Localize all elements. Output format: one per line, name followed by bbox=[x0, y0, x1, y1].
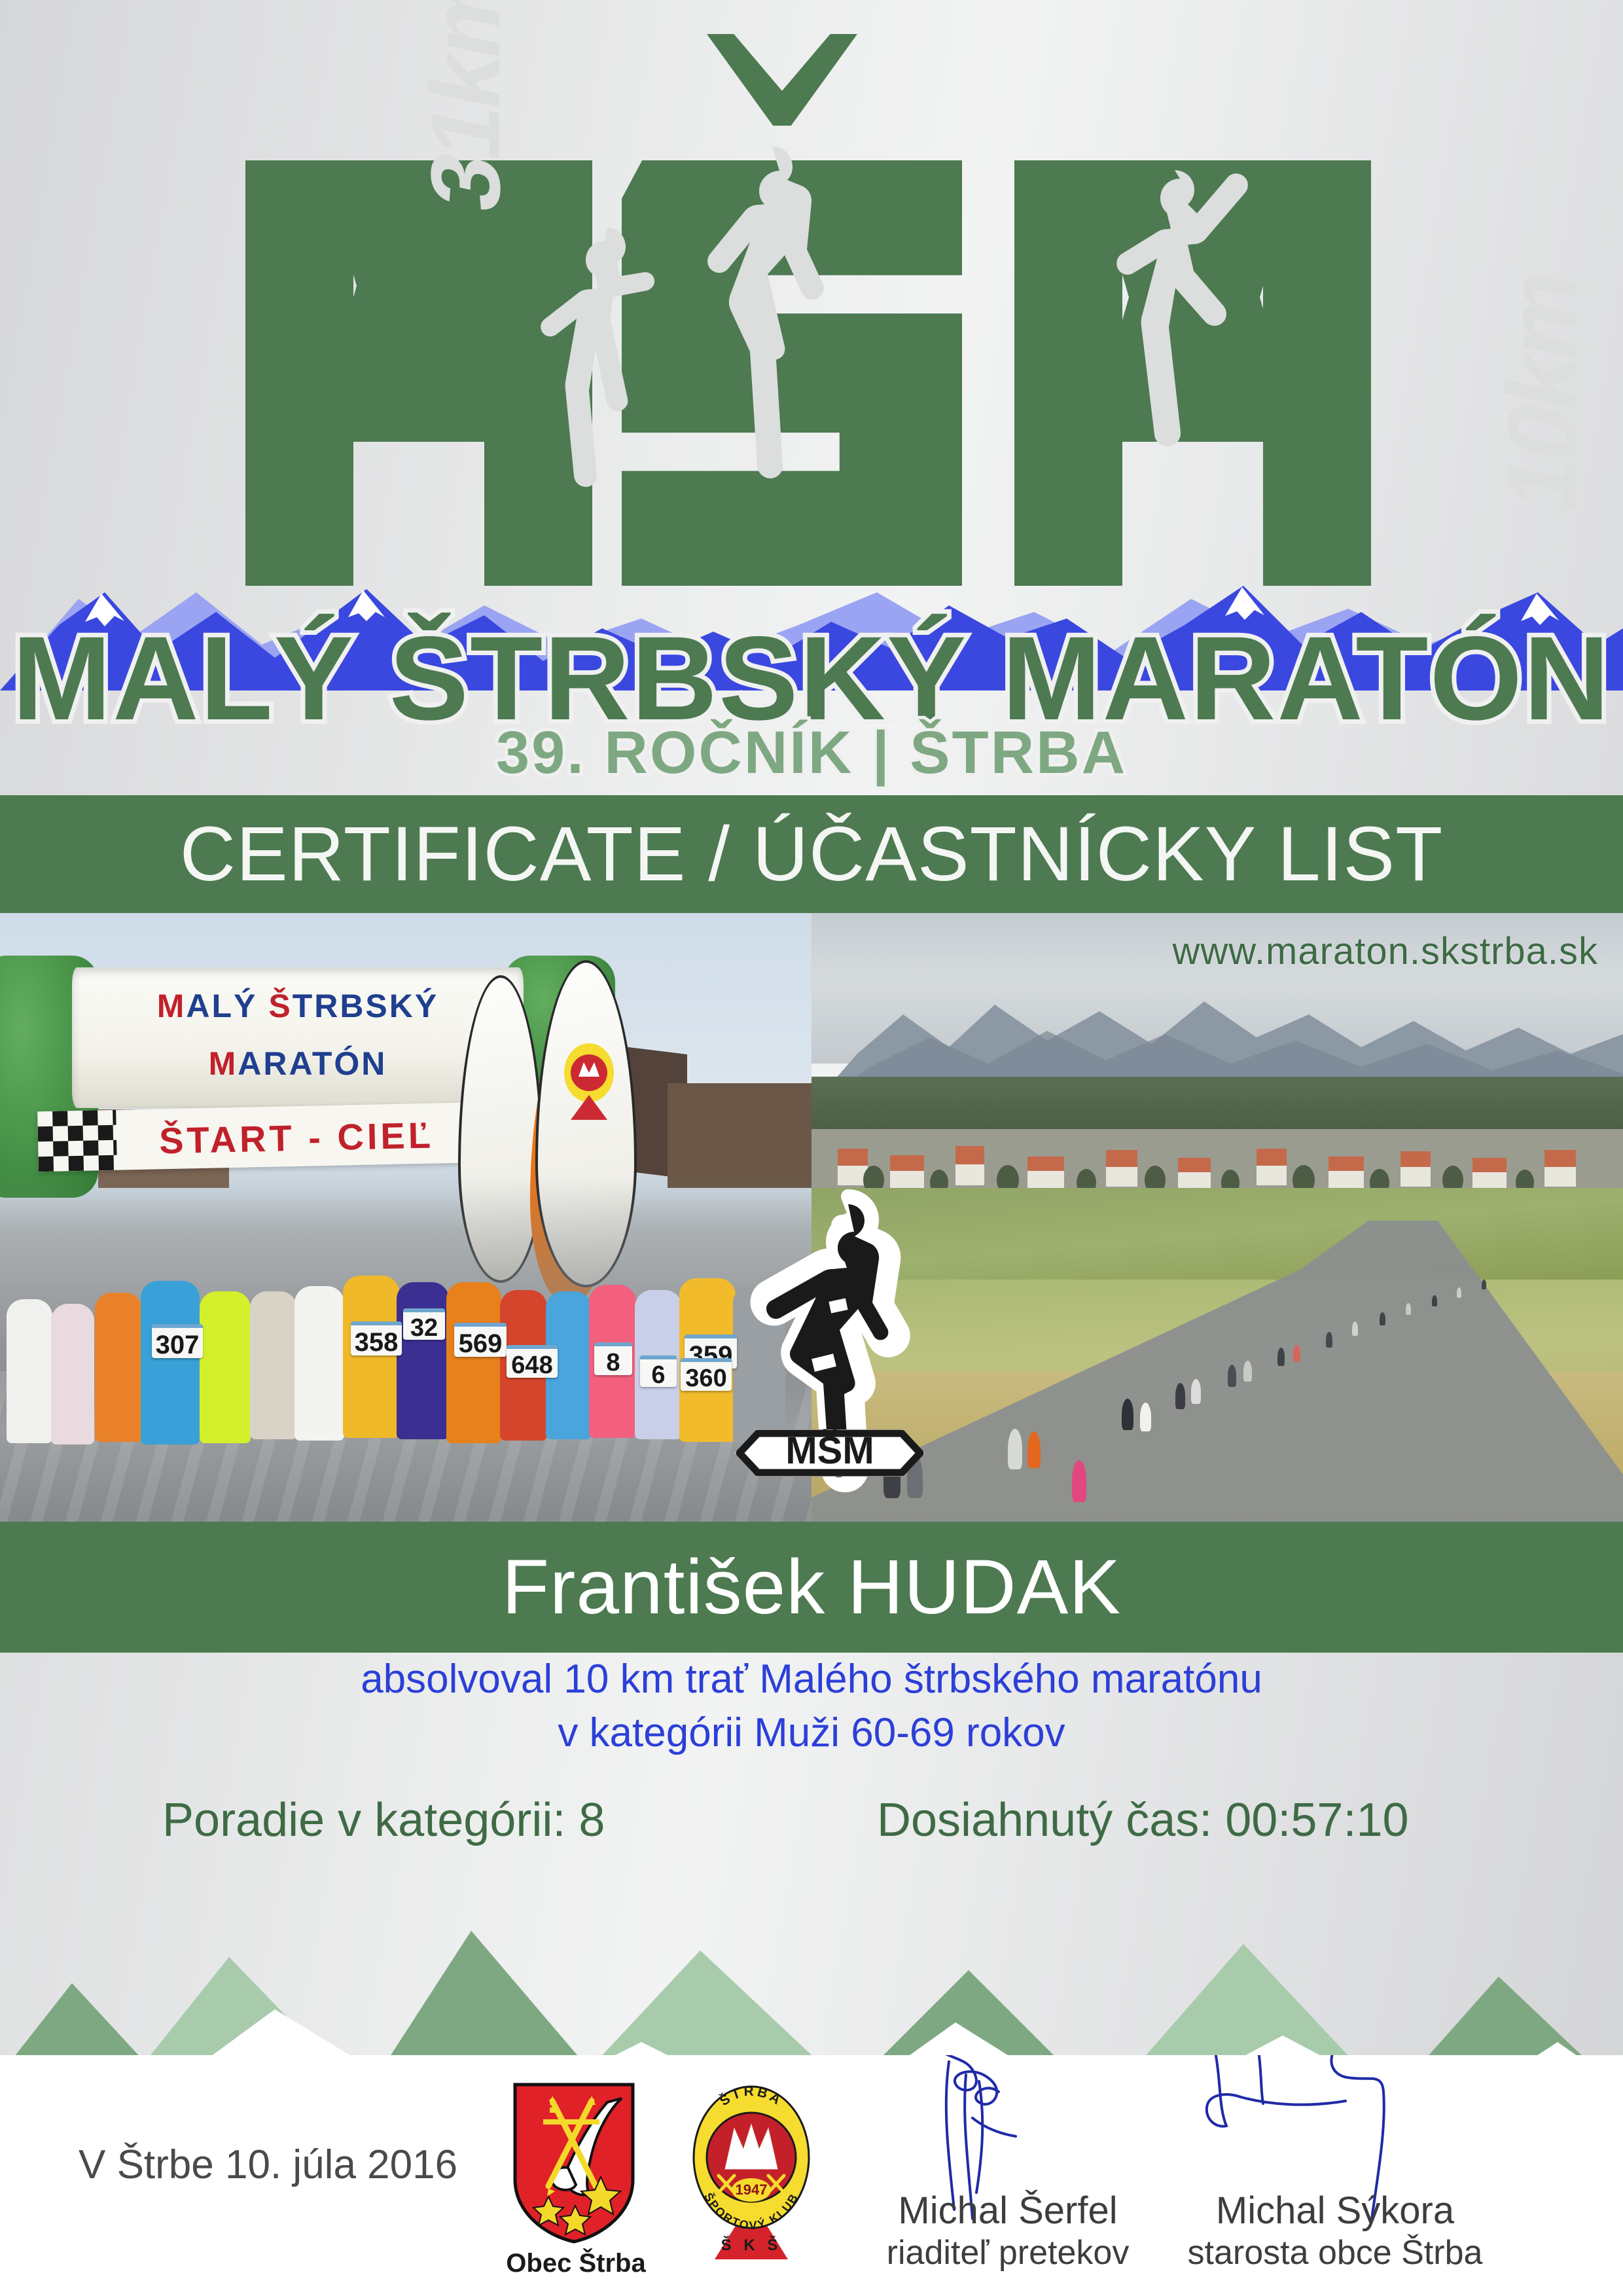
signature-block-mayor: Michal Sýkora starosta obce Štrba bbox=[1178, 2055, 1492, 2296]
runner-figure bbox=[1140, 1403, 1151, 1431]
runner-figure bbox=[294, 1286, 344, 1441]
logo-header: 31km 10km MALÝ ŠTRBSKÝ MARATÓN 39. ROČNÍ… bbox=[0, 0, 1623, 795]
achievement-line-2: v kategórii Muži 60-69 rokov bbox=[0, 1706, 1623, 1760]
category-rank: Poradie v kategórii: 8 bbox=[0, 1793, 811, 1847]
runner-figure bbox=[141, 1281, 200, 1444]
msm-runner-emblem-icon: MŠM bbox=[720, 1178, 942, 1505]
obec-strba-label: Obec Štrba bbox=[497, 2249, 654, 2278]
participant-name: František HUDAK bbox=[502, 1543, 1121, 1632]
arch-banner-line1: MALÝ ŠTRBSKÝ bbox=[72, 987, 524, 1025]
runner-figure bbox=[1228, 1365, 1236, 1387]
runner-figure bbox=[1072, 1460, 1086, 1502]
issue-date: V Štrbe 10. júla 2016 bbox=[79, 2142, 457, 2188]
runner-figure bbox=[1122, 1399, 1133, 1430]
runner-bib: 32 bbox=[403, 1308, 445, 1340]
obec-strba-crest-icon bbox=[512, 2081, 636, 2245]
achievement-details: absolvoval 10 km trať Malého štrbského m… bbox=[0, 1653, 1623, 1760]
runner-figure bbox=[1352, 1321, 1358, 1336]
signatory-name: Michal Sýkora bbox=[1178, 2189, 1492, 2233]
arch-banner-line2: MARATÓN bbox=[72, 1045, 524, 1083]
footer: V Štrbe 10. júla 2016 bbox=[0, 2055, 1623, 2296]
distance-label-right: 10km bbox=[1486, 262, 1599, 521]
photo-start-line: MALÝ ŠTRBSKÝ MARATÓN ŠTART - CIEĽ bbox=[0, 913, 811, 1522]
runner-figure bbox=[1243, 1361, 1252, 1382]
runner-figure bbox=[1277, 1348, 1285, 1366]
runner-figure bbox=[1432, 1295, 1437, 1306]
signature-block-director: Michal Šerfel riaditeľ pretekov bbox=[851, 2055, 1165, 2296]
runner-silhouette-arms-out-icon bbox=[497, 216, 694, 583]
runner-figure bbox=[250, 1291, 297, 1439]
runner-figure bbox=[200, 1291, 251, 1443]
runner-figure bbox=[1175, 1383, 1185, 1409]
runner-figure bbox=[1191, 1379, 1201, 1404]
runner-figure bbox=[51, 1304, 94, 1444]
runner-figure bbox=[95, 1293, 142, 1442]
certificate-page: 31km 10km MALÝ ŠTRBSKÝ MARATÓN 39. ROČNÍ… bbox=[0, 0, 1623, 2296]
sks-year: 1947 bbox=[736, 2181, 768, 2198]
runner-bib: 307 bbox=[152, 1324, 203, 1358]
runner-figure bbox=[397, 1282, 449, 1439]
runner-bib: 358 bbox=[351, 1321, 402, 1355]
runner-crowd: 307 358 32 359 569 648 8 6 360 bbox=[0, 1168, 811, 1522]
runner-figure bbox=[1326, 1332, 1332, 1348]
signatory-name: Michal Šerfel bbox=[851, 2189, 1165, 2233]
runner-figure bbox=[7, 1299, 52, 1443]
sks-flag-logo-icon bbox=[556, 1041, 622, 1120]
signatory-role: starosta obce Štrba bbox=[1178, 2233, 1492, 2272]
arch-banner: MALÝ ŠTRBSKÝ MARATÓN bbox=[72, 967, 524, 1108]
msm-wordmark: 31km 10km bbox=[216, 39, 1407, 583]
runner-silhouette-arm-up-icon bbox=[1096, 157, 1306, 563]
runner-figure bbox=[1293, 1345, 1300, 1362]
runner-figure bbox=[1380, 1312, 1385, 1325]
runner-bib: 648 bbox=[507, 1345, 558, 1378]
sks-bottom-text: Š K Š bbox=[721, 2236, 782, 2254]
website-url[interactable]: www.maraton.skstrba.sk bbox=[1172, 929, 1598, 973]
runner-figure bbox=[1457, 1287, 1461, 1298]
finish-time: Dosiahnutý čas: 00:57:10 bbox=[811, 1793, 1623, 1847]
runner-figure bbox=[1008, 1429, 1022, 1469]
certificate-banner-text: CERTIFICATE / ÚČASTNÍCKY LIST bbox=[180, 810, 1443, 899]
runner-bib: 6 bbox=[640, 1355, 677, 1387]
emblem-text: MŠM bbox=[785, 1429, 874, 1472]
signatory-role: riaditeľ pretekov bbox=[851, 2233, 1165, 2272]
runner-figure bbox=[1027, 1431, 1041, 1468]
results-row: Poradie v kategórii: 8 Dosiahnutý čas: 0… bbox=[0, 1793, 1623, 1847]
sks-strba-crest-icon: 1947 ŠTRBA ŠPORTOVÝ KLUB Š K Š bbox=[686, 2072, 817, 2262]
runner-bib: 569 bbox=[454, 1323, 507, 1357]
certificate-banner: CERTIFICATE / ÚČASTNÍCKY LIST bbox=[0, 795, 1623, 913]
participant-name-banner: František HUDAK bbox=[0, 1522, 1623, 1653]
distance-label-left: 31km bbox=[409, 0, 522, 221]
runner-silhouette-female-icon bbox=[674, 137, 870, 583]
event-subtitle: 39. ROČNÍK | ŠTRBA bbox=[0, 719, 1623, 787]
runner-figure bbox=[1406, 1303, 1411, 1315]
runner-bib: 8 bbox=[594, 1342, 632, 1375]
achievement-line-1: absolvoval 10 km trať Malého štrbského m… bbox=[0, 1653, 1623, 1706]
runner-figure bbox=[446, 1282, 501, 1443]
runner-figure bbox=[1482, 1280, 1486, 1289]
